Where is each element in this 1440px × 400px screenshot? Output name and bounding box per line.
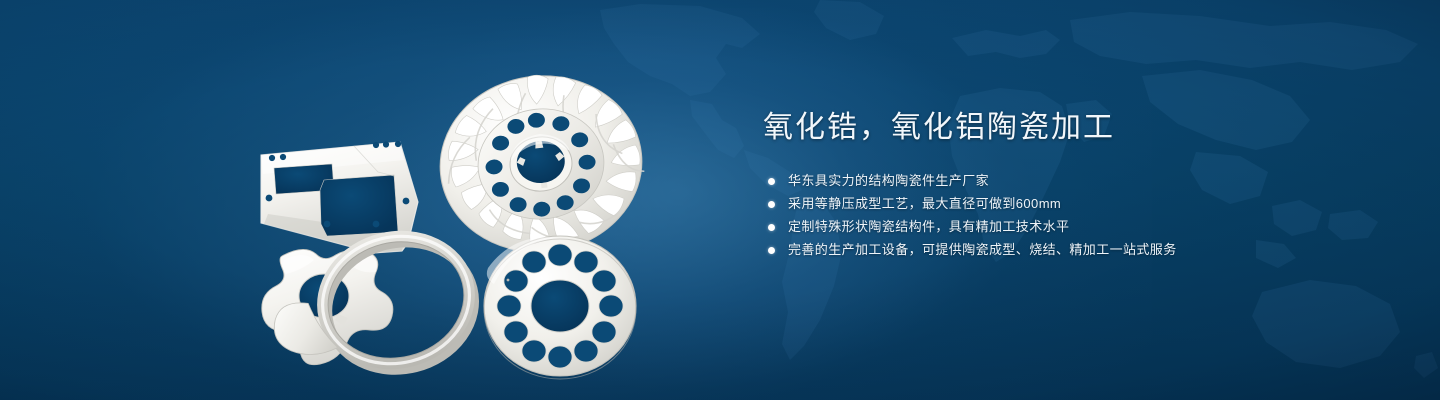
bullet-dot-icon xyxy=(768,247,775,254)
feature-text: 华东具实力的结构陶瓷件生产厂家 xyxy=(788,174,989,188)
page-title: 氧化锆，氧化铝陶瓷加工 xyxy=(763,108,1383,148)
feature-text: 定制特殊形状陶瓷结构件，具有精加工技术水平 xyxy=(788,220,1069,234)
ceramic-perforated-disc xyxy=(484,236,636,379)
ceramic-parts-photo xyxy=(228,38,684,380)
bullet-dot-icon xyxy=(768,178,775,185)
list-item: 定制特殊形状陶瓷结构件，具有精加工技术水平 xyxy=(763,220,1383,234)
bullet-dot-icon xyxy=(768,201,775,208)
ceramic-impeller-wheel xyxy=(431,65,651,262)
bullet-dot-icon xyxy=(768,224,775,231)
banner-copy: 氧化锆，氧化铝陶瓷加工 华东具实力的结构陶瓷件生产厂家 采用等静压成型工艺，最大… xyxy=(763,108,1383,266)
list-item: 华东具实力的结构陶瓷件生产厂家 xyxy=(763,174,1383,188)
list-item: 采用等静压成型工艺，最大直径可做到600mm xyxy=(763,197,1383,211)
feature-text: 完善的生产加工设备，可提供陶瓷成型、烧结、精加工一站式服务 xyxy=(788,243,1177,257)
feature-list: 华东具实力的结构陶瓷件生产厂家 采用等静压成型工艺，最大直径可做到600mm 定… xyxy=(763,174,1383,257)
feature-text: 采用等静压成型工艺，最大直径可做到600mm xyxy=(788,197,1061,211)
hero-banner: 氧化锆，氧化铝陶瓷加工 华东具实力的结构陶瓷件生产厂家 采用等静压成型工艺，最大… xyxy=(0,0,1440,400)
list-item: 完善的生产加工设备，可提供陶瓷成型、烧结、精加工一站式服务 xyxy=(763,243,1383,257)
